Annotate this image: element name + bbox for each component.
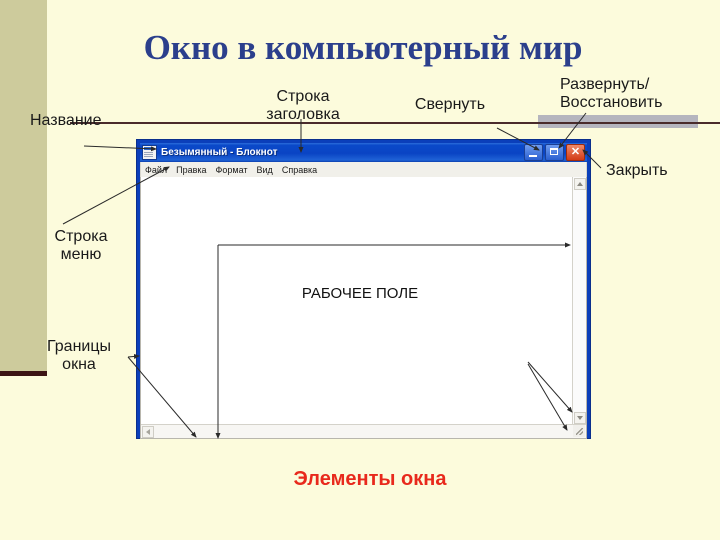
- window-title-text: Безымянный - Блокнот: [161, 147, 524, 158]
- menu-item-view[interactable]: Вид: [257, 165, 273, 175]
- decorative-horizontal-rule: [70, 122, 720, 124]
- callout-label-stroka-menu: Строка меню: [36, 228, 126, 264]
- window-titlebar[interactable]: Безымянный - Блокнот ✕: [140, 143, 587, 162]
- vertical-scrollbar[interactable]: [572, 177, 586, 438]
- menu-item-format[interactable]: Формат: [216, 165, 248, 175]
- scroll-left-arrow-icon[interactable]: [142, 426, 154, 438]
- window-controls: ✕: [524, 144, 585, 161]
- menu-item-edit[interactable]: Правка: [176, 165, 206, 175]
- scroll-up-arrow-icon[interactable]: [574, 178, 586, 190]
- callout-label-razvernut: Развернуть/ Восстановить: [560, 76, 718, 112]
- scroll-down-arrow-icon[interactable]: [574, 412, 586, 424]
- callout-label-svernut: Свернуть: [398, 96, 502, 114]
- minimize-button[interactable]: [524, 144, 543, 161]
- close-button[interactable]: ✕: [566, 144, 585, 161]
- slide-caption: Элементы окна: [180, 468, 560, 491]
- window-client-area[interactable]: [140, 177, 587, 439]
- window-menubar[interactable]: Файл Правка Формат Вид Справка: [140, 162, 587, 177]
- menu-item-file[interactable]: Файл: [145, 165, 167, 175]
- callout-label-nazvanie: Название: [30, 112, 102, 130]
- callout-label-stroka-zagolovka: Строка заголовка: [248, 88, 358, 124]
- notepad-icon: [142, 145, 157, 160]
- close-icon: ✕: [571, 147, 580, 158]
- slide-canvas: Окно в компьютерный мир Название Строка …: [0, 0, 720, 540]
- menu-item-help[interactable]: Справка: [282, 165, 317, 175]
- callout-label-granicy-okna: Границы окна: [32, 338, 126, 374]
- horizontal-scrollbar[interactable]: [141, 424, 586, 438]
- maximize-button[interactable]: [545, 144, 564, 161]
- callout-label-zakryt: Закрыть: [606, 162, 668, 180]
- page-title: Окно в компьютерный мир: [113, 28, 613, 68]
- callout-label-rabochee-pole: РАБОЧЕЕ ПОЛЕ: [250, 285, 470, 302]
- resize-grip-icon[interactable]: [573, 425, 585, 437]
- sidebar-strip: [0, 0, 47, 375]
